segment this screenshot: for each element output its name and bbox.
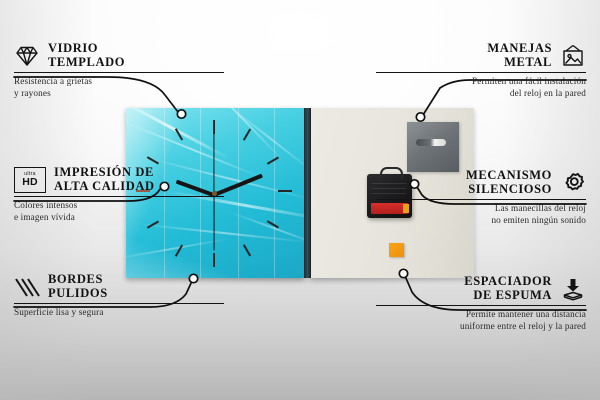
gear-icon xyxy=(560,171,586,195)
callout-sub-line1: Permite mantener una distancia xyxy=(376,309,586,321)
ultra-hd-icon: ultra HD xyxy=(14,167,46,193)
callout-sub-line2: e imagen vívida xyxy=(14,212,224,224)
callout-sub-line1: Colores intensos xyxy=(14,200,224,212)
callout-sub-line2: uniforme entre el reloj y la pared xyxy=(376,321,586,333)
clock-tick xyxy=(278,190,292,192)
callout-sub-line2: no emiten ningún sonido xyxy=(376,215,586,227)
diamond-icon xyxy=(14,44,40,68)
callout-sub-line2: y rayones xyxy=(14,88,224,100)
clock-tick xyxy=(213,253,215,267)
callout-sub-line1: Resistencia a grietas xyxy=(14,76,224,88)
callout-title-line2: PULIDOS xyxy=(48,287,108,301)
clock-tick xyxy=(213,120,215,134)
callout-manejas-metal: MANEJAS METAL Permiten una fácil instala… xyxy=(376,42,586,99)
callout-sub-line1: Las manecillas del reloj xyxy=(376,203,586,215)
wall-hanger-icon xyxy=(560,44,586,68)
callout-title-line2: DE ESPUMA xyxy=(464,289,552,303)
ultra-hd-icon-big-label: HD xyxy=(22,177,38,188)
callout-vidrio-templado: VIDRIO TEMPLADO Resistencia a grietas y … xyxy=(14,42,224,99)
callout-title-line1: VIDRIO xyxy=(48,42,125,56)
callout-title-line2: ALTA CALIDAD xyxy=(54,180,155,194)
callout-title-line1: MANEJAS xyxy=(487,42,552,56)
clock-tick xyxy=(267,157,279,165)
infographic-canvas: VIDRIO TEMPLADO Resistencia a grietas y … xyxy=(0,0,600,400)
clock-tick xyxy=(243,244,251,256)
callout-bordes-pulidos: BORDES PULIDOS Superficie lisa y segura xyxy=(14,273,224,319)
callout-title-line2: SILENCIOSO xyxy=(466,183,552,197)
callout-title-line2: METAL xyxy=(487,56,552,70)
callout-sub-line1: Superficie lisa y segura xyxy=(14,307,224,319)
callout-title-line1: MECANISMO xyxy=(466,169,552,183)
hanger-slot xyxy=(416,139,446,146)
callout-sub-line2: del reloj en la pared xyxy=(376,88,586,100)
callout-impresion-alta-calidad: ultra HD IMPRESIÓN DE ALTA CALIDAD Color… xyxy=(14,166,224,223)
clock-glass-edge xyxy=(304,108,311,278)
polished-edges-icon xyxy=(14,275,40,299)
foam-spacer-icon xyxy=(560,277,586,301)
clock-tick xyxy=(243,128,251,140)
callout-mecanismo-silencioso: MECANISMO SILENCIOSO Las manecillas del … xyxy=(376,169,586,226)
callout-title-line1: ESPACIADOR xyxy=(464,275,552,289)
metal-hanger-plate xyxy=(407,122,459,172)
callout-espaciador-espuma: ESPACIADOR DE ESPUMA Permite mantener un… xyxy=(376,275,586,332)
callout-title-line1: IMPRESIÓN DE xyxy=(54,166,155,180)
callout-title-line2: TEMPLADO xyxy=(48,56,125,70)
callout-title-line1: BORDES xyxy=(48,273,108,287)
callout-sub-line1: Permiten una fácil instalación xyxy=(376,76,586,88)
foam-spacer xyxy=(389,243,404,257)
